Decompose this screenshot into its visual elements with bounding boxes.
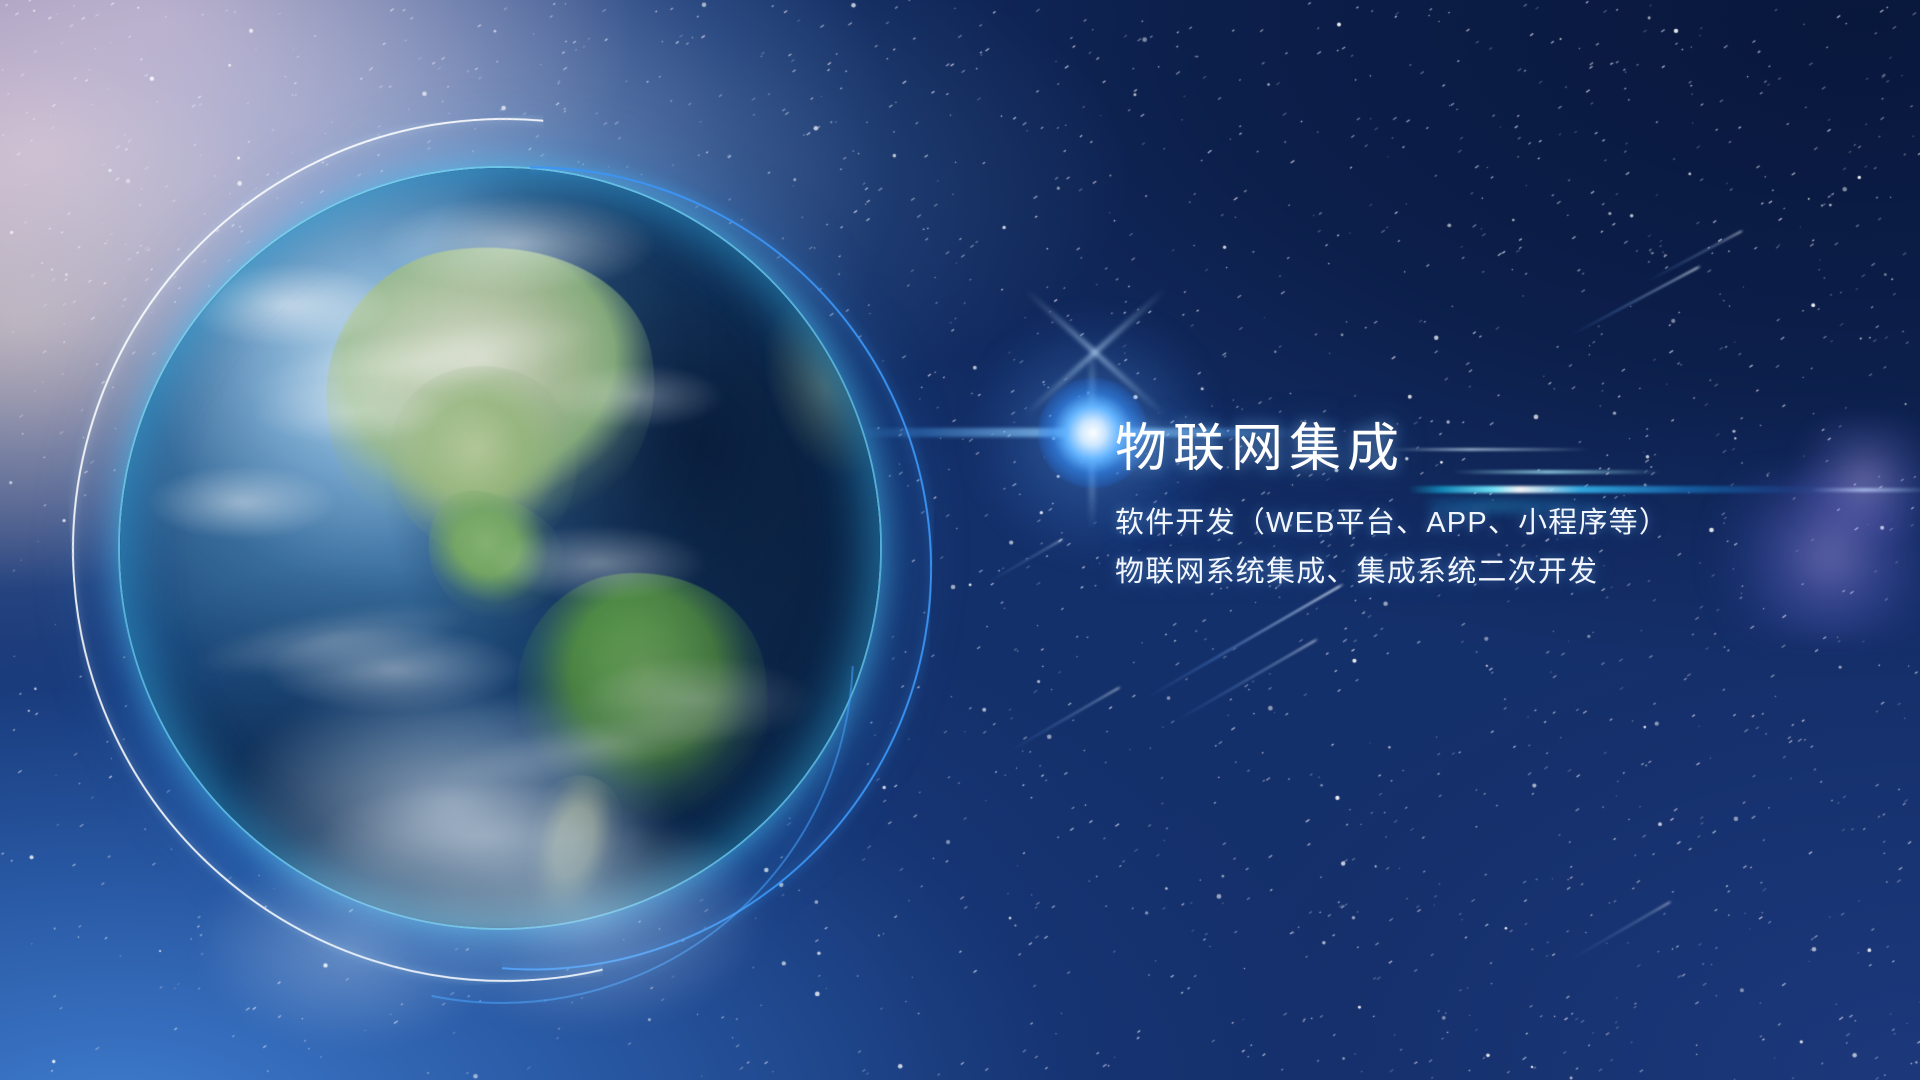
- meteor-streak-icon: [1145, 583, 1345, 700]
- page-title: 物联网集成: [1115, 420, 1815, 478]
- lens-flare-vertical-icon: [1089, 340, 1095, 530]
- hero-subtitle-1: 软件开发（WEB平台、APP、小程序等）: [1115, 500, 1815, 547]
- meteor-streak-icon: [1568, 265, 1702, 338]
- meteor-streak-icon: [1646, 229, 1744, 283]
- hero-text-block: 物联网集成 软件开发（WEB平台、APP、小程序等） 物联网系统集成、集成系统二…: [1115, 420, 1815, 596]
- hero-banner: 物联网集成 软件开发（WEB平台、APP、小程序等） 物联网系统集成、集成系统二…: [0, 0, 1920, 1080]
- hero-subtitle-2: 物联网系统集成、集成系统二次开发: [1115, 549, 1815, 596]
- meteor-streak-icon: [1567, 900, 1672, 962]
- meteor-streak-icon: [1008, 686, 1122, 753]
- meteor-streak-icon: [985, 538, 1064, 585]
- lens-flare-diagonal-a-icon: [1023, 287, 1168, 418]
- meteor-streak-icon: [1171, 638, 1319, 725]
- globe-mist-reflection: [190, 700, 810, 1080]
- lens-flare-diagonal-b-icon: [1023, 287, 1168, 418]
